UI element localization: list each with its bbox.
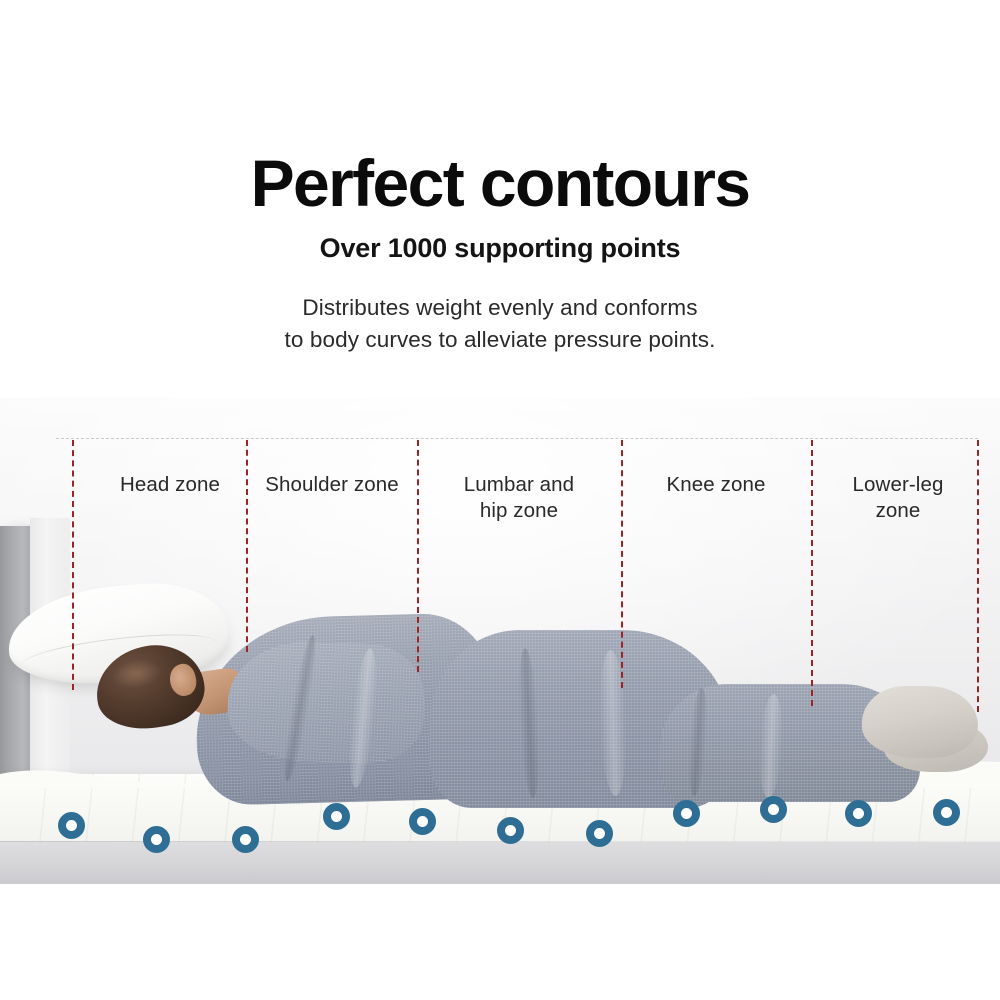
- sock-front: [862, 686, 978, 758]
- description-paragraph: Distributes weight evenly and conforms t…: [0, 292, 1000, 356]
- support-point-ring: [232, 826, 259, 853]
- support-point-ring: [760, 796, 787, 823]
- hair-highlight: [110, 656, 164, 691]
- support-point-ring: [323, 803, 350, 830]
- page-subtitle: Over 1000 supporting points: [0, 234, 1000, 264]
- support-point-ring: [58, 812, 85, 839]
- support-point-ring: [143, 826, 170, 853]
- support-point-ring: [845, 800, 872, 827]
- sleeper-arm: [226, 639, 426, 766]
- page-title: Perfect contours: [0, 150, 1000, 216]
- support-point-ring: [409, 808, 436, 835]
- description-line-1: Distributes weight evenly and conforms: [0, 292, 1000, 324]
- support-point-ring: [497, 817, 524, 844]
- fabric-texture: [226, 639, 426, 766]
- description-line-2: to body curves to alleviate pressure poi…: [0, 324, 1000, 356]
- hero-text-block: Perfect contours Over 1000 supporting po…: [0, 150, 1000, 356]
- support-point-ring: [673, 800, 700, 827]
- page-canvas: Perfect contours Over 1000 supporting po…: [0, 0, 1000, 1000]
- support-point-ring: [586, 820, 613, 847]
- support-point-ring: [933, 799, 960, 826]
